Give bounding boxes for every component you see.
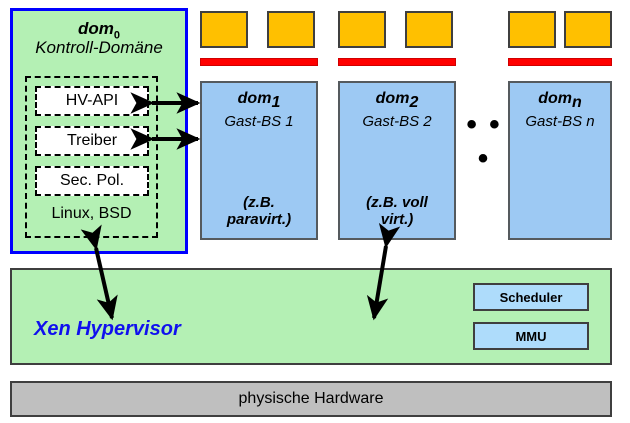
arrow-dom2-hypervisor	[374, 246, 386, 318]
arrow-dom0-hypervisor	[96, 248, 112, 318]
xen-architecture-diagram: dom0 Kontroll-Domäne HV-API Treiber Sec.…	[0, 0, 630, 423]
connection-arrows	[0, 0, 630, 423]
